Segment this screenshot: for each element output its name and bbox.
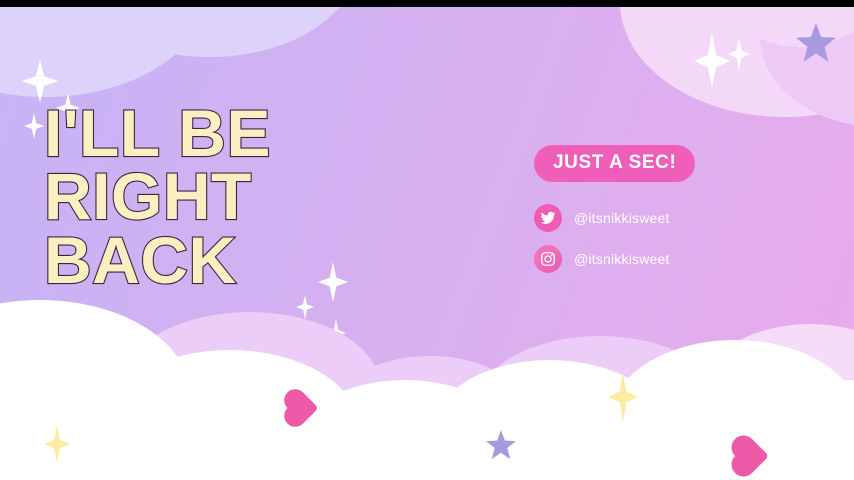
sparkle-headline-right-large <box>318 262 348 302</box>
social-row-instagram[interactable]: @itsnikkisweet <box>534 245 695 273</box>
cloud-white-base <box>0 434 854 480</box>
instagram-icon[interactable] <box>534 245 562 273</box>
headline-line-1: I'LL BE <box>44 103 271 164</box>
social-row-twitter[interactable]: @itsnikkisweet <box>534 204 695 232</box>
twitter-icon[interactable] <box>534 204 562 232</box>
letterbox-bar-top <box>0 0 854 7</box>
social-list: @itsnikkisweet @itsnikkisweet <box>534 204 695 273</box>
cloud-bottom-layer <box>0 320 854 480</box>
twitter-handle: @itsnikkisweet <box>574 210 670 226</box>
status-badge: JUST A SEC! <box>534 145 695 182</box>
sparkle-headline-mid <box>296 295 314 319</box>
stream-overlay-scene: I'LL BE RIGHT BACK JUST A SEC! @itsnikki… <box>0 0 854 480</box>
info-panel: JUST A SEC! @itsnikkisweet <box>534 145 695 286</box>
instagram-handle: @itsnikkisweet <box>574 251 670 267</box>
headline-block: I'LL BE RIGHT BACK <box>44 103 271 293</box>
sparkle-top-left-small <box>24 113 44 139</box>
headline-line-2: RIGHT <box>44 166 271 227</box>
gradient-background: I'LL BE RIGHT BACK JUST A SEC! @itsnikki… <box>0 7 854 480</box>
headline-line-3: BACK <box>44 230 271 291</box>
